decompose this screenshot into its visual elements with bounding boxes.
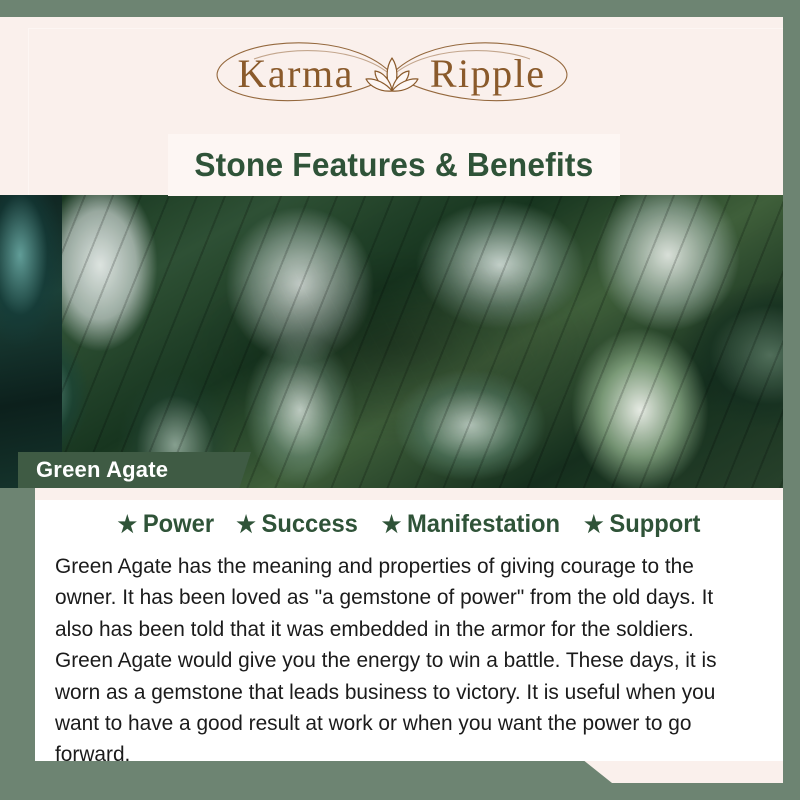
page-title: Stone Features & Benefits — [194, 146, 593, 184]
feature-tag-manifestation: ★ Manifestation — [381, 510, 559, 539]
feature-tag-label: Manifestation — [407, 510, 560, 539]
infographic-page: Karma Ripple Stone Features & — [0, 0, 800, 800]
stone-photo — [0, 195, 783, 488]
feature-tag-power: ★ Power — [118, 510, 215, 539]
stone-description: Green Agate has the meaning and properti… — [55, 551, 744, 771]
brand-name-left: Karma — [238, 54, 354, 94]
left-sage-rail — [0, 488, 35, 783]
logo-wrap: Karma Ripple — [192, 31, 592, 117]
feature-tag-success: ★ Success — [236, 510, 358, 539]
section-title-banner: Stone Features & Benefits — [168, 134, 620, 196]
brand-name-right: Ripple — [430, 54, 546, 94]
stone-photo-left-edge — [0, 195, 62, 488]
feature-tag-list: ★ Power ★ Success ★ Manifestation ★ Supp… — [35, 510, 783, 539]
feature-tag-label: Power — [143, 510, 214, 539]
stone-name-ribbon: Green Agate — [18, 452, 251, 488]
stone-photo-image — [0, 195, 783, 488]
star-icon: ★ — [118, 513, 138, 536]
lotus-icon — [364, 54, 420, 98]
feature-tag-label: Success — [261, 510, 357, 539]
frame-top-border — [0, 0, 800, 17]
bottom-sage-bar — [0, 761, 612, 783]
logo-text: Karma Ripple — [238, 52, 546, 96]
feature-tag-support: ★ Support — [584, 510, 700, 539]
feature-tag-label: Support — [609, 510, 700, 539]
star-icon: ★ — [236, 513, 256, 536]
card-surface: Karma Ripple Stone Features & — [0, 0, 783, 783]
brand-logo: Karma Ripple — [0, 22, 783, 126]
star-icon: ★ — [381, 513, 401, 536]
stone-name-label: Green Agate — [18, 457, 168, 483]
content-panel: ★ Power ★ Success ★ Manifestation ★ Supp… — [35, 500, 783, 778]
frame-right-border — [783, 0, 800, 800]
star-icon: ★ — [584, 513, 604, 536]
